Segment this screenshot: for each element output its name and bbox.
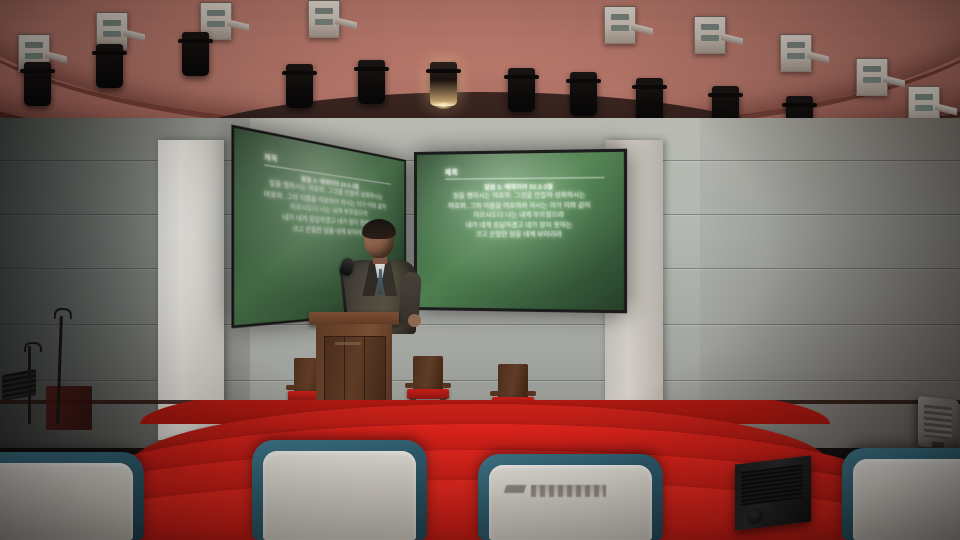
ceiling-light-lens bbox=[25, 42, 43, 48]
ceiling-light-lens bbox=[207, 10, 225, 16]
photo-scene: 제목 말씀 3: 예레미야 33:2-3절 일을 행하시는 여호와, 그것을 만… bbox=[0, 0, 960, 540]
music-stand-hook bbox=[24, 342, 42, 352]
ceiling-light-lens bbox=[915, 94, 933, 100]
main-screen-line: 크고 은밀한 일을 네게 보이리라 bbox=[427, 230, 613, 240]
main-screen-line: 일을 행하시는 여호와, 그것을 만들며 성취하시는 bbox=[427, 190, 613, 201]
wall-pillar-left bbox=[158, 140, 224, 440]
spotlight-yoke bbox=[20, 69, 55, 73]
spotlight-yoke bbox=[282, 71, 317, 75]
chair-armrest bbox=[405, 383, 414, 388]
stage-floor-monitor-speaker bbox=[735, 455, 811, 530]
recessed-ceiling-light bbox=[780, 34, 812, 72]
main-screen-content: 제목 말씀 3: 예레미야 33:2-3절 일을 행하시는 여호와, 그것을 만… bbox=[417, 152, 624, 310]
chair-back-panel bbox=[853, 459, 960, 540]
stage-spotlight bbox=[636, 78, 663, 122]
ceiling-light-lens bbox=[863, 66, 881, 72]
stage-spotlight bbox=[508, 68, 535, 112]
spotlight-yoke bbox=[632, 85, 667, 89]
spotlight-yoke bbox=[566, 79, 601, 83]
chair-armrest bbox=[286, 385, 295, 390]
speaker-horn-fins bbox=[924, 405, 952, 440]
recessed-ceiling-light bbox=[604, 6, 636, 44]
main-screen-divider bbox=[445, 177, 605, 180]
main-projection-screen: 제목 말씀 3: 예레미야 33:2-3절 일을 행하시는 여호와, 그것을 만… bbox=[414, 149, 627, 314]
audience-chair bbox=[842, 448, 960, 540]
main-screen-line: 내가 네게 응답하겠고 네가 알지 못하는 bbox=[427, 220, 613, 230]
ceiling-light-lens bbox=[701, 24, 719, 30]
preacher-hand bbox=[408, 314, 421, 327]
spotlight-yoke bbox=[782, 103, 817, 107]
stage-spotlight bbox=[24, 62, 51, 106]
stage-spotlight bbox=[570, 72, 597, 116]
chair-armrest bbox=[442, 383, 451, 388]
ceiling-light-lens bbox=[611, 14, 629, 20]
stage-spotlight bbox=[182, 32, 209, 76]
stage-spotlight bbox=[96, 44, 123, 88]
stage-spotlight-lit bbox=[430, 62, 457, 106]
stage-spotlight bbox=[286, 64, 313, 108]
main-screen-line: 여호와, 그의 이름을 여호와라 하시는 이가 이와 같이 bbox=[427, 200, 613, 211]
audience-chair bbox=[0, 452, 144, 540]
main-screen-line: 이르시도다 너는 내게 부르짖으라 bbox=[427, 210, 613, 220]
ceiling-light-lens bbox=[787, 42, 805, 48]
chair-scuff-mark bbox=[531, 485, 606, 497]
chair-back-panel bbox=[0, 463, 133, 540]
preacher-hair bbox=[362, 219, 396, 239]
recessed-ceiling-light bbox=[856, 58, 888, 96]
pulpit-ledge-trim bbox=[335, 342, 361, 345]
monitor-grille bbox=[741, 464, 803, 506]
ceiling-light-lens bbox=[103, 20, 121, 26]
spotlight-yoke bbox=[708, 93, 743, 97]
audience-chair bbox=[252, 440, 427, 540]
chair-scuff-mark bbox=[504, 485, 526, 493]
wall-mounted-speaker bbox=[918, 396, 958, 450]
chair-armrest bbox=[527, 391, 536, 396]
audience-chair bbox=[478, 454, 663, 540]
spotlight-yoke bbox=[426, 69, 461, 73]
recessed-ceiling-light bbox=[694, 16, 726, 54]
spotlight-yoke bbox=[178, 39, 213, 43]
spotlight-yoke bbox=[92, 51, 127, 55]
spotlight-yoke bbox=[354, 67, 389, 71]
chair-back-panel bbox=[489, 465, 652, 540]
main-screen-title: 제목 bbox=[427, 164, 613, 176]
music-stand bbox=[2, 328, 48, 424]
monitor-woofer bbox=[747, 507, 763, 525]
music-stand-pole bbox=[28, 346, 31, 424]
spotlight-yoke bbox=[504, 75, 539, 79]
chair-back-panel bbox=[263, 451, 416, 540]
ceiling-light-lens bbox=[315, 8, 333, 14]
stage-spotlight bbox=[358, 60, 385, 104]
stage-side-dark-object bbox=[46, 386, 92, 430]
chair-armrest bbox=[490, 391, 499, 396]
recessed-ceiling-light bbox=[308, 0, 340, 38]
